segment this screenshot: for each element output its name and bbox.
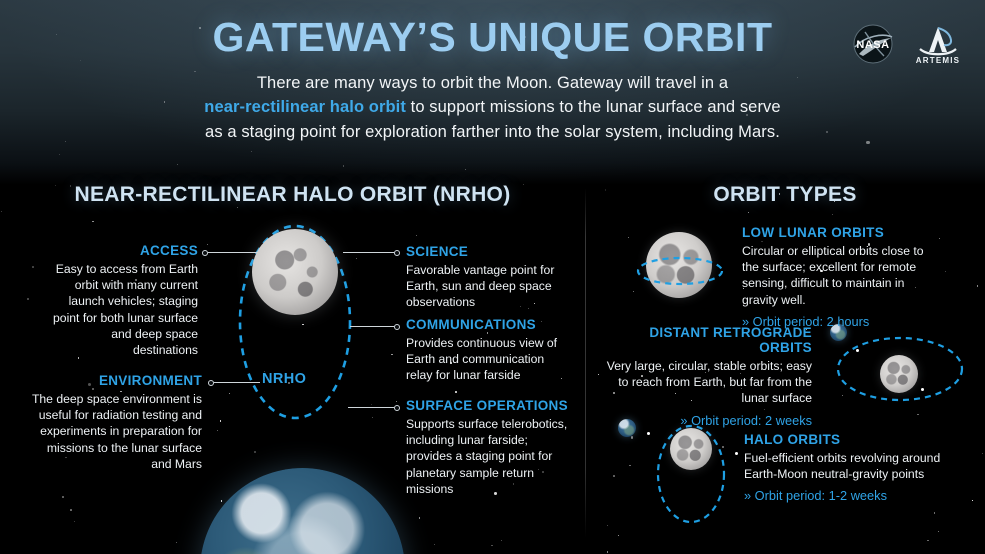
halo-orbits-body: Fuel-efficient orbits revolving around E… xyxy=(744,450,944,482)
callout-surface-operations-heading: SURFACE OPERATIONS xyxy=(406,398,576,413)
callout-science-heading: SCIENCE xyxy=(406,244,568,259)
callout-access-heading: ACCESS xyxy=(48,243,198,258)
moon-graphic-nrho xyxy=(252,229,338,315)
leader-dot xyxy=(394,405,400,411)
callout-science: SCIENCE Favorable vantage point for Eart… xyxy=(406,244,568,311)
callout-access-body: Easy to access from Earth orbit with man… xyxy=(48,261,198,358)
infographic-canvas: GATEWAY’S UNIQUE ORBIT There are many wa… xyxy=(0,0,985,554)
moon-graphic-dro xyxy=(880,355,918,393)
earth-graphic-nrho xyxy=(200,468,405,554)
callout-science-body: Favorable vantage point for Earth, sun a… xyxy=(406,262,568,311)
callout-environment-heading: ENVIRONMENT xyxy=(30,373,202,388)
low-lunar-orbit-path xyxy=(636,255,724,287)
svg-text:ARTEMIS: ARTEMIS xyxy=(916,56,960,65)
callout-communications-heading: COMMUNICATIONS xyxy=(406,317,572,332)
star-dot-halo-2 xyxy=(735,452,738,455)
subtitle-line-1: There are many ways to orbit the Moon. G… xyxy=(0,71,985,95)
leader-segment xyxy=(348,407,394,408)
leader-dot xyxy=(394,250,400,256)
subtitle-highlight: near-rectilinear halo orbit xyxy=(204,98,406,116)
orbit-type-low-lunar-orbits: LOW LUNAR ORBITS Circular or elliptical … xyxy=(742,225,932,329)
halo-orbits-period: » Orbit period: 1-2 weeks xyxy=(744,488,944,503)
orbit-type-halo-orbits: HALO ORBITS Fuel-efficient orbits revolv… xyxy=(744,432,944,503)
svg-text:NASA: NASA xyxy=(856,39,889,51)
star-dot-halo-1 xyxy=(647,432,650,435)
callout-surface-operations-body: Supports surface telerobotics, including… xyxy=(406,416,576,497)
header: GATEWAY’S UNIQUE ORBIT There are many wa… xyxy=(0,16,985,144)
subtitle-line-2: near-rectilinear halo orbit to support m… xyxy=(0,95,985,119)
distant-retrograde-orbits-period: » Orbit period: 2 weeks xyxy=(600,413,812,428)
logo-group: NASA ARTEMIS xyxy=(847,22,965,66)
distant-retrograde-orbits-heading: DISTANT RETROGRADE ORBITS xyxy=(600,325,812,355)
callout-environment-body: The deep space environment is useful for… xyxy=(30,391,202,472)
low-lunar-orbits-body: Circular or elliptical orbits close to t… xyxy=(742,243,932,308)
callout-surface-operations: SURFACE OPERATIONS Supports surface tele… xyxy=(406,398,576,497)
callout-communications-body: Provides continuous view of Earth and co… xyxy=(406,335,572,384)
page-subtitle: There are many ways to orbit the Moon. G… xyxy=(0,71,985,144)
nrho-section-title: NEAR-RECTILINEAR HALO ORBIT (NRHO) xyxy=(0,183,585,207)
subtitle-line-3: as a staging point for exploration farth… xyxy=(0,120,985,144)
nasa-logo: NASA xyxy=(847,23,899,65)
halo-orbits-heading: HALO ORBITS xyxy=(744,432,944,447)
leader-line-communications xyxy=(350,322,400,331)
nrho-orbit-label: NRHO xyxy=(262,371,306,387)
callout-access: ACCESS Easy to access from Earth orbit w… xyxy=(48,243,198,358)
star-dot-dro-1 xyxy=(856,349,859,352)
low-lunar-orbits-heading: LOW LUNAR ORBITS xyxy=(742,225,932,240)
moon-graphic-halo xyxy=(670,428,712,470)
leader-dot xyxy=(394,324,400,330)
distant-retrograde-orbits-body: Very large, circular, stable orbits; eas… xyxy=(600,358,812,407)
leader-line-surface-operations xyxy=(348,403,400,412)
page-title: GATEWAY’S UNIQUE ORBIT xyxy=(0,16,985,59)
artemis-logo: ARTEMIS xyxy=(911,22,965,66)
star-dot-dro-2 xyxy=(921,388,924,391)
leader-segment xyxy=(214,382,260,383)
leader-line-environment xyxy=(208,378,260,387)
callout-environment: ENVIRONMENT The deep space environment i… xyxy=(30,373,202,472)
subtitle-line-2-rest: to support missions to the lunar surface… xyxy=(406,98,781,116)
leader-line-access xyxy=(202,248,258,257)
orbit-type-distant-retrograde-orbits: DISTANT RETROGRADE ORBITS Very large, ci… xyxy=(600,325,812,428)
leader-segment xyxy=(350,326,394,327)
leader-segment xyxy=(343,252,394,253)
panel-divider xyxy=(585,188,586,538)
leader-segment xyxy=(208,252,258,253)
orbit-types-section-title: ORBIT TYPES xyxy=(585,183,985,207)
leader-line-science xyxy=(343,248,400,257)
callout-communications: COMMUNICATIONS Provides continuous view … xyxy=(406,317,572,384)
